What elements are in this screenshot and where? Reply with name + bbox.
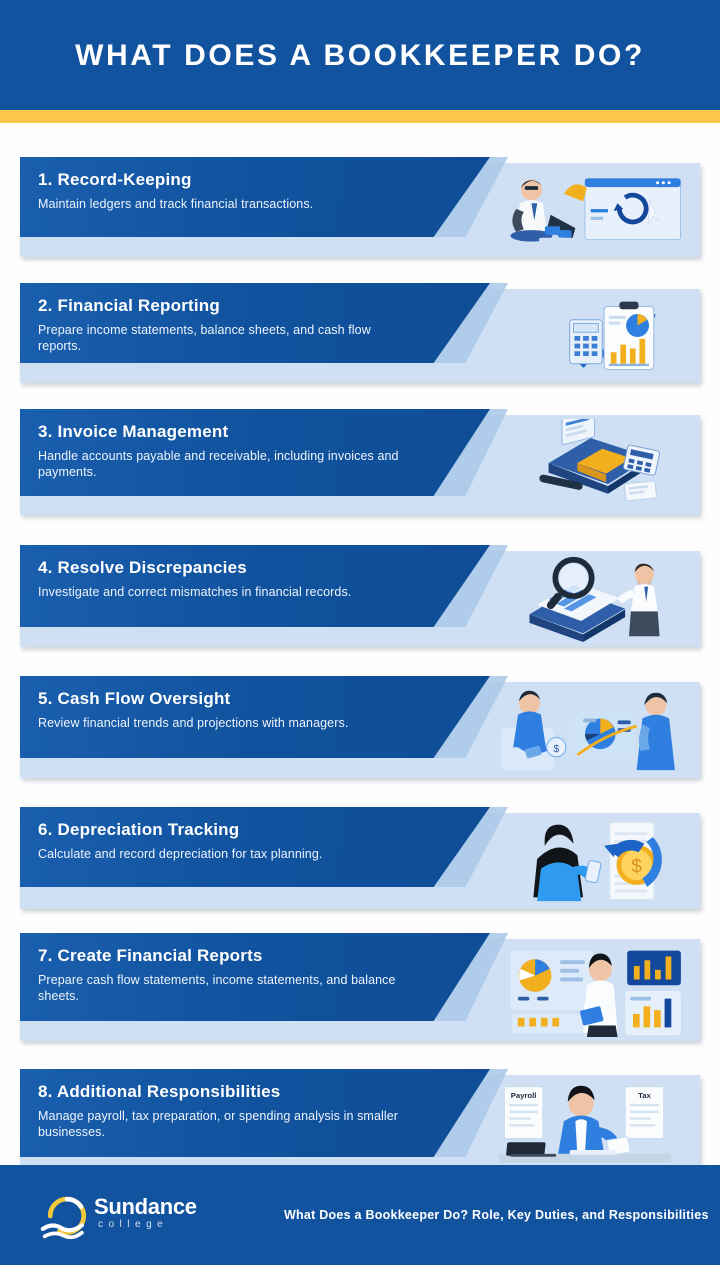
item-description: Maintain ledgers and track financial tra…: [38, 196, 410, 213]
list-item[interactable]: 4. Resolve Discrepancies Investigate and…: [0, 545, 720, 670]
item-description: Handle accounts payable and receivable, …: [38, 448, 410, 482]
illustration-person-presenting-dashboard-charts: [477, 943, 692, 1037]
item-description: Prepare income statements, balance sheet…: [38, 322, 410, 356]
svg-text:Tax: Tax: [638, 1091, 651, 1100]
item-title: 2. Financial Reporting: [38, 296, 490, 316]
list-item[interactable]: 3. Invoice Management Handle accounts pa…: [0, 409, 720, 539]
items-list: 1. Record-Keeping Maintain ledgers and t…: [0, 123, 720, 1165]
item-banner[interactable]: 2. Financial Reporting Prepare income st…: [20, 283, 490, 363]
illustration-two-people-reviewing-charts: $: [477, 686, 692, 774]
list-item[interactable]: 2. Financial Reporting Prepare income st…: [0, 283, 720, 403]
illustration-person-with-phone-and-coin-refresh: $: [477, 817, 692, 905]
item-title: 6. Depreciation Tracking: [38, 820, 490, 840]
page-title: WHAT DOES A BOOKKEEPER DO?: [75, 39, 645, 72]
list-item[interactable]: 1. Record-Keeping Maintain ledgers and t…: [0, 157, 720, 277]
list-item[interactable]: $ 6. Depreciation Tracking Calculate and…: [0, 807, 720, 927]
svg-text:Payroll: Payroll: [511, 1091, 537, 1100]
item-description: Prepare cash flow statements, income sta…: [38, 972, 410, 1006]
illustration-person-at-desk-with-payroll-tax-documents: Payroll Tax: [477, 1079, 692, 1173]
item-banner[interactable]: 5. Cash Flow Oversight Review financial …: [20, 676, 490, 758]
item-title: 3. Invoice Management: [38, 422, 490, 442]
page-footer: Sundance college What Does a Bookkeeper …: [0, 1165, 720, 1265]
item-banner[interactable]: 4. Resolve Discrepancies Investigate and…: [20, 545, 490, 627]
svg-text:$: $: [553, 743, 559, 755]
item-title: 8. Additional Responsibilities: [38, 1082, 490, 1102]
logo-subtitle: college: [98, 1219, 168, 1230]
footer-tagline: What Does a Bookkeeper Do? Role, Key Dut…: [284, 1208, 709, 1222]
illustration-magnifier-over-documents-with-person: [477, 555, 692, 643]
item-banner[interactable]: 1. Record-Keeping Maintain ledgers and t…: [20, 157, 490, 237]
item-banner[interactable]: 6. Depreciation Tracking Calculate and r…: [20, 807, 490, 887]
illustration-calculator-clipboard-growth-arrow: [477, 293, 692, 379]
item-banner[interactable]: 8. Additional Responsibilities Manage pa…: [20, 1069, 490, 1157]
svg-text:$: $: [631, 856, 642, 877]
item-description: Manage payroll, tax preparation, or spen…: [38, 1108, 410, 1142]
item-description: Calculate and record depreciation for ta…: [38, 846, 410, 863]
item-title: 4. Resolve Discrepancies: [38, 558, 490, 578]
illustration-invoice-documents-calculator: [477, 419, 692, 511]
item-title: 1. Record-Keeping: [38, 170, 490, 190]
list-item[interactable]: $ 5. Cash Flow Oversight: [0, 676, 720, 801]
sun-and-waves-logo-icon: [38, 1188, 96, 1242]
item-banner[interactable]: 7. Create Financial Reports Prepare cash…: [20, 933, 490, 1021]
page-header: WHAT DOES A BOOKKEEPER DO?: [0, 0, 720, 110]
item-description: Investigate and correct mismatches in fi…: [38, 584, 410, 601]
list-item[interactable]: 7. Create Financial Reports Prepare cash…: [0, 933, 720, 1063]
item-title: 5. Cash Flow Oversight: [38, 689, 490, 709]
logo-wordmark: Sundance: [94, 1194, 197, 1220]
sundance-college-logo[interactable]: Sundance college: [38, 1186, 198, 1244]
illustration-man-at-desktop-computer: [477, 167, 692, 253]
item-banner[interactable]: 3. Invoice Management Handle accounts pa…: [20, 409, 490, 496]
item-title: 7. Create Financial Reports: [38, 946, 490, 966]
item-description: Review financial trends and projections …: [38, 715, 410, 732]
header-accent-rule: [0, 110, 720, 123]
